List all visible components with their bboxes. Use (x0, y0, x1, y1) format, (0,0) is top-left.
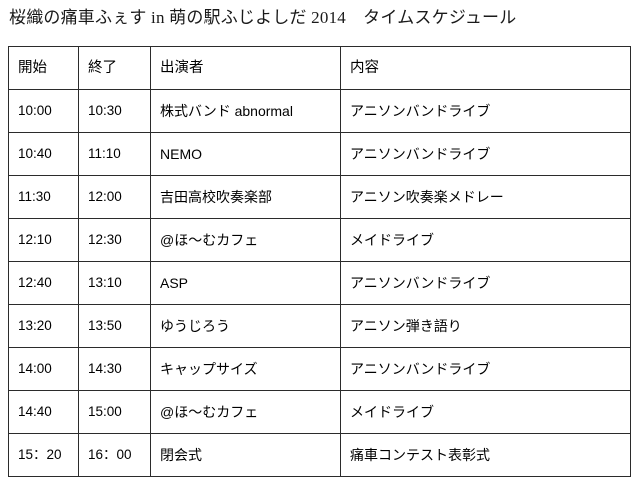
cell-performer: 吉田高校吹奏楽部 (151, 176, 341, 219)
table-row: 12:10 12:30 @ほ〜むカフェ メイドライブ (9, 219, 631, 262)
table-row: 15：20 16：00 閉会式 痛車コンテスト表彰式 (9, 434, 631, 477)
cell-start-time: 13:20 (9, 305, 79, 348)
cell-content: アニソンバンドライブ (341, 348, 631, 391)
table-row: 10:40 11:10 NEMO アニソンバンドライブ (9, 133, 631, 176)
column-header-start: 開始 (9, 47, 79, 90)
cell-content: メイドライブ (341, 391, 631, 434)
cell-performer: ゆうじろう (151, 305, 341, 348)
table-row: 13:20 13:50 ゆうじろう アニソン弾き語り (9, 305, 631, 348)
cell-performer: 閉会式 (151, 434, 341, 477)
timetable: 開始 終了 出演者 内容 10:00 10:30 株式バンド abnormal … (8, 46, 631, 477)
cell-start-time: 14:40 (9, 391, 79, 434)
cell-performer: 株式バンド abnormal (151, 90, 341, 133)
cell-end-time: 12:00 (79, 176, 151, 219)
table-header-row: 開始 終了 出演者 内容 (9, 47, 631, 90)
cell-performer: キャップサイズ (151, 348, 341, 391)
table-row: 12:40 13:10 ASP アニソンバンドライブ (9, 262, 631, 305)
cell-performer: @ほ〜むカフェ (151, 391, 341, 434)
cell-end-time: 11:10 (79, 133, 151, 176)
cell-end-time: 14:30 (79, 348, 151, 391)
cell-start-time: 12:40 (9, 262, 79, 305)
cell-content: アニソンバンドライブ (341, 133, 631, 176)
table-row: 14:40 15:00 @ほ〜むカフェ メイドライブ (9, 391, 631, 434)
cell-end-time: 13:10 (79, 262, 151, 305)
column-header-performer: 出演者 (151, 47, 341, 90)
cell-start-time: 11:30 (9, 176, 79, 219)
cell-start-time: 10:00 (9, 90, 79, 133)
cell-content: メイドライブ (341, 219, 631, 262)
cell-start-time: 14:00 (9, 348, 79, 391)
table-body: 10:00 10:30 株式バンド abnormal アニソンバンドライブ 10… (9, 90, 631, 477)
cell-content: アニソン吹奏楽メドレー (341, 176, 631, 219)
table-row: 10:00 10:30 株式バンド abnormal アニソンバンドライブ (9, 90, 631, 133)
cell-end-time: 15:00 (79, 391, 151, 434)
cell-end-time: 13:50 (79, 305, 151, 348)
table-header: 開始 終了 出演者 内容 (9, 47, 631, 90)
cell-start-time: 15：20 (9, 434, 79, 477)
cell-content: アニソンバンドライブ (341, 262, 631, 305)
cell-end-time: 16：00 (79, 434, 151, 477)
cell-performer: ASP (151, 262, 341, 305)
table-row: 14:00 14:30 キャップサイズ アニソンバンドライブ (9, 348, 631, 391)
cell-performer: @ほ〜むカフェ (151, 219, 341, 262)
page-title: 桜織の痛車ふぇす in 萌の駅ふじよしだ 2014 タイムスケジュール (9, 7, 516, 29)
cell-content: アニソンバンドライブ (341, 90, 631, 133)
cell-content: 痛車コンテスト表彰式 (341, 434, 631, 477)
cell-end-time: 10:30 (79, 90, 151, 133)
column-header-end: 終了 (79, 47, 151, 90)
document-page: 桜織の痛車ふぇす in 萌の駅ふじよしだ 2014 タイムスケジュール 開始 終… (0, 0, 640, 442)
cell-start-time: 12:10 (9, 219, 79, 262)
cell-performer: NEMO (151, 133, 341, 176)
table-row: 11:30 12:00 吉田高校吹奏楽部 アニソン吹奏楽メドレー (9, 176, 631, 219)
cell-start-time: 10:40 (9, 133, 79, 176)
cell-content: アニソン弾き語り (341, 305, 631, 348)
cell-end-time: 12:30 (79, 219, 151, 262)
column-header-content: 内容 (341, 47, 631, 90)
